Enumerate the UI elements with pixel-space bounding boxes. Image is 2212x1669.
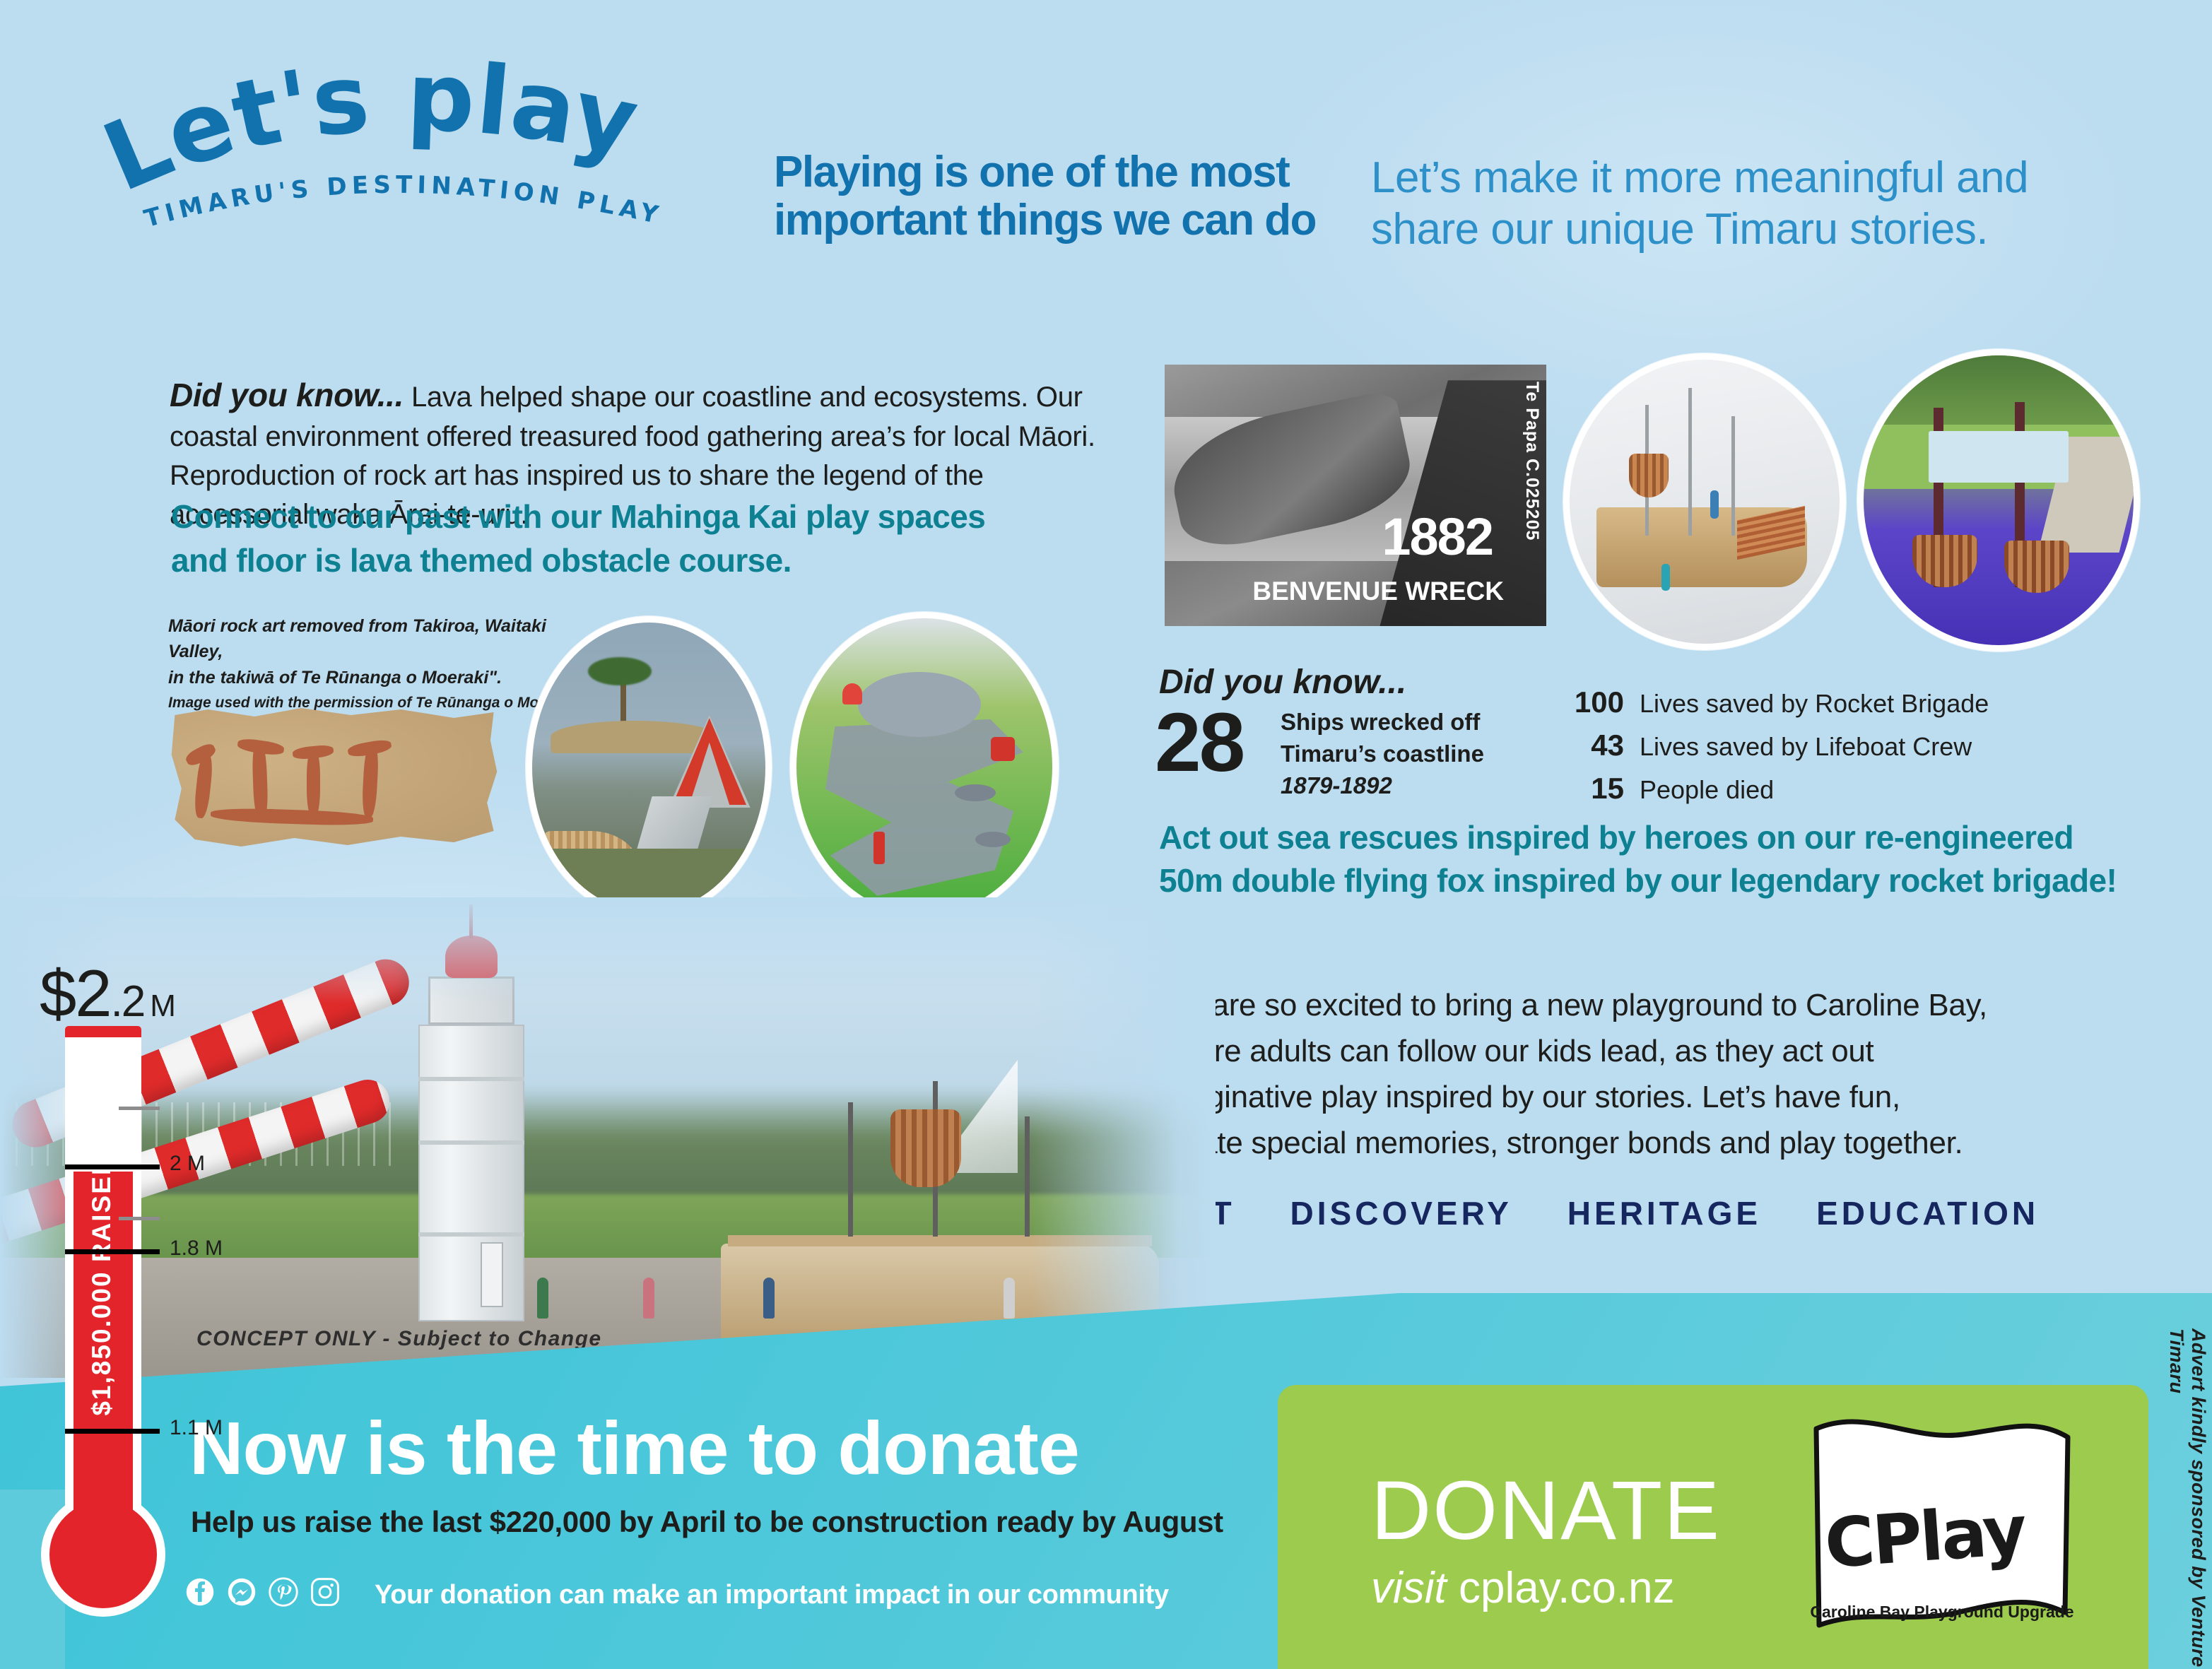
tick-minor <box>119 1107 160 1110</box>
amount-currency: $ <box>40 956 75 1030</box>
headline-light-line1: Let’s make it more meaningful and <box>1371 152 2191 204</box>
donate-heading: DONATE <box>1371 1463 1721 1559</box>
cplay-wordmark: CPlay <box>1822 1489 2053 1584</box>
instagram-icon[interactable] <box>310 1577 340 1607</box>
social-links[interactable] <box>185 1577 340 1607</box>
amount-unit: M <box>150 989 175 1023</box>
poster-canvas: Let's play! TIMARU'S DESTINATION PLAYGRO… <box>0 0 2212 1669</box>
donate-band-subtitle: Help us raise the last $220,000 by April… <box>191 1505 1223 1539</box>
left-did-you-know-label: Did you know... <box>170 377 404 413</box>
ship-playground-render-oval <box>1563 353 1846 650</box>
ship-crows-nest <box>890 1109 961 1187</box>
lighthouse-band <box>418 1232 524 1237</box>
headline-bold-line1: Playing is one of the most <box>774 148 1339 196</box>
rockart-caption: Māori rock art removed from Takiroa, Wai… <box>168 613 592 714</box>
right-body-line2: where adults can follow our kids lead, a… <box>1158 1028 2098 1074</box>
stat-label: People died <box>1640 775 1774 805</box>
sponsor-credit: Advert kindly sponsored by Venture Timar… <box>2165 1328 2209 1669</box>
stat-number: 15 <box>1548 772 1624 806</box>
concept-disclaimer: CONCEPT ONLY - Subject to Change <box>196 1327 602 1351</box>
amount-decimal: .2 <box>111 977 145 1026</box>
connect-line2: and floor is lava themed obstacle course… <box>171 538 1118 582</box>
pillars-row: ART DISCOVERY HERITAGE EDUCATION <box>1158 1194 2039 1232</box>
lighthouse-band <box>418 1077 524 1081</box>
right-body-line4: create special memories, stronger bonds … <box>1158 1120 2098 1166</box>
tick-1-8m <box>65 1249 160 1254</box>
tick-2m <box>65 1164 160 1169</box>
facebook-icon[interactable] <box>185 1577 215 1607</box>
impact-suffix: in our community <box>940 1580 1169 1610</box>
stat-label: Lives saved by Lifeboat Crew <box>1640 732 1972 762</box>
benvenue-credit: Te Papa C.025205 <box>1522 382 1542 541</box>
hero-fade-right <box>1032 897 1216 1378</box>
visit-prefix: visit <box>1371 1564 1447 1612</box>
pillar-discovery: DISCOVERY <box>1290 1194 1512 1232</box>
visit-url[interactable]: cplay.co.nz <box>1459 1564 1675 1612</box>
act-out-callout: Act out sea rescues inspired by heroes o… <box>1159 816 2163 902</box>
lighthouse-band <box>418 1140 524 1145</box>
right-body-line3: imaginative play inspired by our stories… <box>1158 1074 2098 1120</box>
cplay-logo: CPlay Caroline Bay Playground Upgrade <box>1788 1413 2085 1661</box>
impact-bold: important impact <box>725 1580 939 1610</box>
thermometer-raised-label: $1,850.000 RAISED <box>87 1038 117 1533</box>
hero-figure <box>643 1278 654 1319</box>
tick-label-2m: 2 M <box>170 1152 205 1176</box>
tick-minor <box>119 1217 160 1220</box>
basket-swing-render-oval <box>1857 349 2140 651</box>
tick-label-1-8m: 1.8 M <box>170 1237 223 1261</box>
hero-figure <box>1004 1278 1015 1319</box>
ships-wrecked-line2: Timaru’s coastline <box>1281 738 1521 770</box>
benvenue-wreck-photo: 1882 BENVENUE WRECK Te Papa C.025205 <box>1165 365 1546 626</box>
ships-wrecked-text: Ships wrecked off Timaru’s coastline 187… <box>1281 707 1521 802</box>
ship-mast <box>848 1102 853 1237</box>
benvenue-year: 1882 <box>1382 507 1493 567</box>
stat-row: 15 People died <box>1548 772 1989 806</box>
stat-number: 43 <box>1548 729 1624 762</box>
messenger-icon[interactable] <box>227 1577 257 1607</box>
pillar-education: EDUCATION <box>1816 1194 2039 1232</box>
fundraising-thermometer: $1,850.000 RAISED <box>65 1026 141 1591</box>
lava-course-render-oval <box>790 612 1059 921</box>
connect-line1: Connect to our past with our Mahinga Kai… <box>171 495 1118 538</box>
right-body-paragraph: We are so excited to bring a new playgro… <box>1158 982 2098 1166</box>
ships-wrecked-years: 1879-1892 <box>1281 772 1392 798</box>
rockart-caption-line1: Māori rock art removed from Takiroa, Wai… <box>168 613 592 665</box>
donate-band-title: Now is the time to donate <box>189 1406 1079 1492</box>
lighthouse-body <box>418 1025 524 1321</box>
headline-light-line2: share our unique Timaru stories. <box>1371 204 2191 255</box>
lighthouse-door <box>481 1242 503 1307</box>
hero-playground-render <box>0 897 1216 1378</box>
act-out-line1: Act out sea rescues inspired by heroes o… <box>1159 816 2163 859</box>
thermometer-top-cap <box>65 1026 141 1037</box>
right-body-line1: We are so excited to bring a new playgro… <box>1158 982 2098 1028</box>
cplay-tagline: Caroline Bay Playground Upgrade <box>1801 1603 2083 1622</box>
pillar-heritage: HERITAGE <box>1567 1194 1761 1232</box>
headline-light: Let’s make it more meaningful and share … <box>1371 152 2191 255</box>
stat-number: 100 <box>1548 685 1624 719</box>
amount-whole: 2 <box>75 956 110 1030</box>
ships-wrecked-line1: Ships wrecked off <box>1281 707 1521 738</box>
pinterest-icon[interactable] <box>269 1577 298 1607</box>
benvenue-label: BENVENUE WRECK <box>1252 577 1504 606</box>
stat-row: 100 Lives saved by Rocket Brigade <box>1548 685 1989 719</box>
hero-figure <box>537 1278 548 1319</box>
ship-mast <box>1025 1116 1030 1237</box>
impact-prefix: Your donation can make an <box>375 1580 725 1610</box>
lighthouse-tower <box>396 968 544 1321</box>
headline-bold-line2: important things we can do <box>774 196 1339 244</box>
headline-bold: Playing is one of the most important thi… <box>774 148 1339 244</box>
donate-visit-line[interactable]: visit cplay.co.nz <box>1371 1563 1675 1613</box>
connect-callout: Connect to our past with our Mahinga Kai… <box>171 495 1118 582</box>
rockart-caption-line2: in the takiwā of Te Rūnanga o Moeraki". <box>168 665 592 690</box>
tick-1-1m <box>65 1429 160 1434</box>
stat-label: Lives saved by Rocket Brigade <box>1640 689 1989 719</box>
hero-figure <box>763 1278 775 1319</box>
logo-svg: Let's play! TIMARU'S DESTINATION PLAYGRO… <box>106 92 714 247</box>
act-out-line2: 50m double flying fox inspired by our le… <box>1159 859 2163 902</box>
amount-raised-display: $2.2M <box>40 955 175 1032</box>
rockart-credit: Image used with the permission of Te Rūn… <box>168 692 592 714</box>
impact-statement: Your donation can make an important impa… <box>375 1580 1169 1610</box>
pavilion-render-oval <box>526 616 772 919</box>
rock-art-image <box>168 707 500 848</box>
stat-row: 43 Lives saved by Lifeboat Crew <box>1548 729 1989 762</box>
lets-play-logo: Let's play! TIMARU'S DESTINATION PLAYGRO… <box>106 92 714 247</box>
rescue-stats-list: 100 Lives saved by Rocket Brigade 43 Liv… <box>1548 685 1989 815</box>
tick-label-1-1m: 1.1 M <box>170 1416 223 1440</box>
ships-wrecked-number: 28 <box>1155 703 1243 783</box>
